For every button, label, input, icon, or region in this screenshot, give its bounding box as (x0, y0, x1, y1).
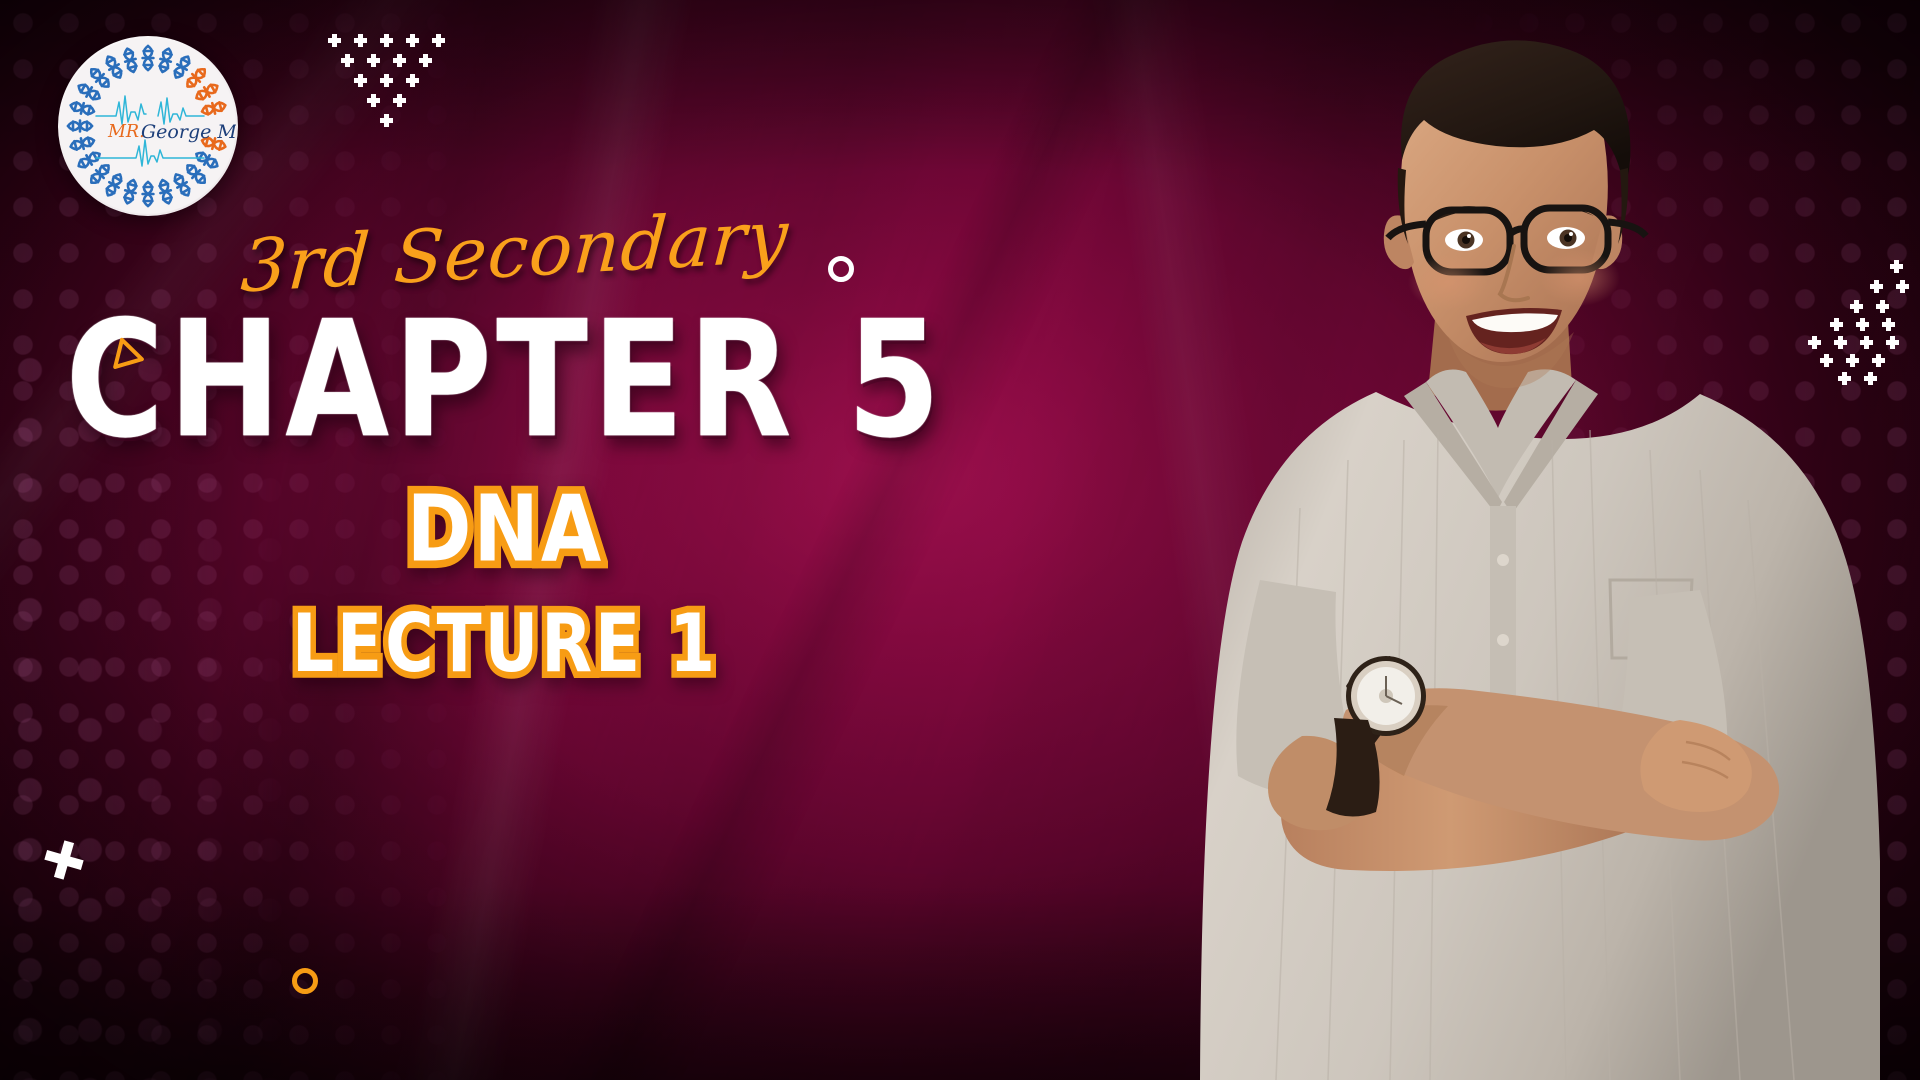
subject-label: DNA (0, 484, 1010, 576)
logo-name: George Magdy (141, 121, 238, 143)
plus-mark-bottom-left (42, 838, 86, 882)
ring-outline-orange (292, 968, 318, 994)
logo-prefix: MR. (107, 122, 145, 142)
title-block: 3rd Secondary CHAPTER 5 DNA LECTURE 1 (0, 215, 1010, 670)
lecture-thumbnail-canvas: MR. George Magdy 3rd Secondary CHAPTER 5… (0, 0, 1920, 1080)
ring-outline-white (828, 256, 854, 282)
page-title: CHAPTER 5 (0, 295, 1020, 460)
plus-cluster-top (322, 30, 462, 130)
plus-cluster-right (1790, 258, 1910, 388)
triangle-outline-left (108, 336, 150, 378)
mr-george-magdy-logo[interactable]: MR. George Magdy (58, 36, 238, 216)
lecture-number-label: LECTURE 1 (0, 604, 1010, 685)
